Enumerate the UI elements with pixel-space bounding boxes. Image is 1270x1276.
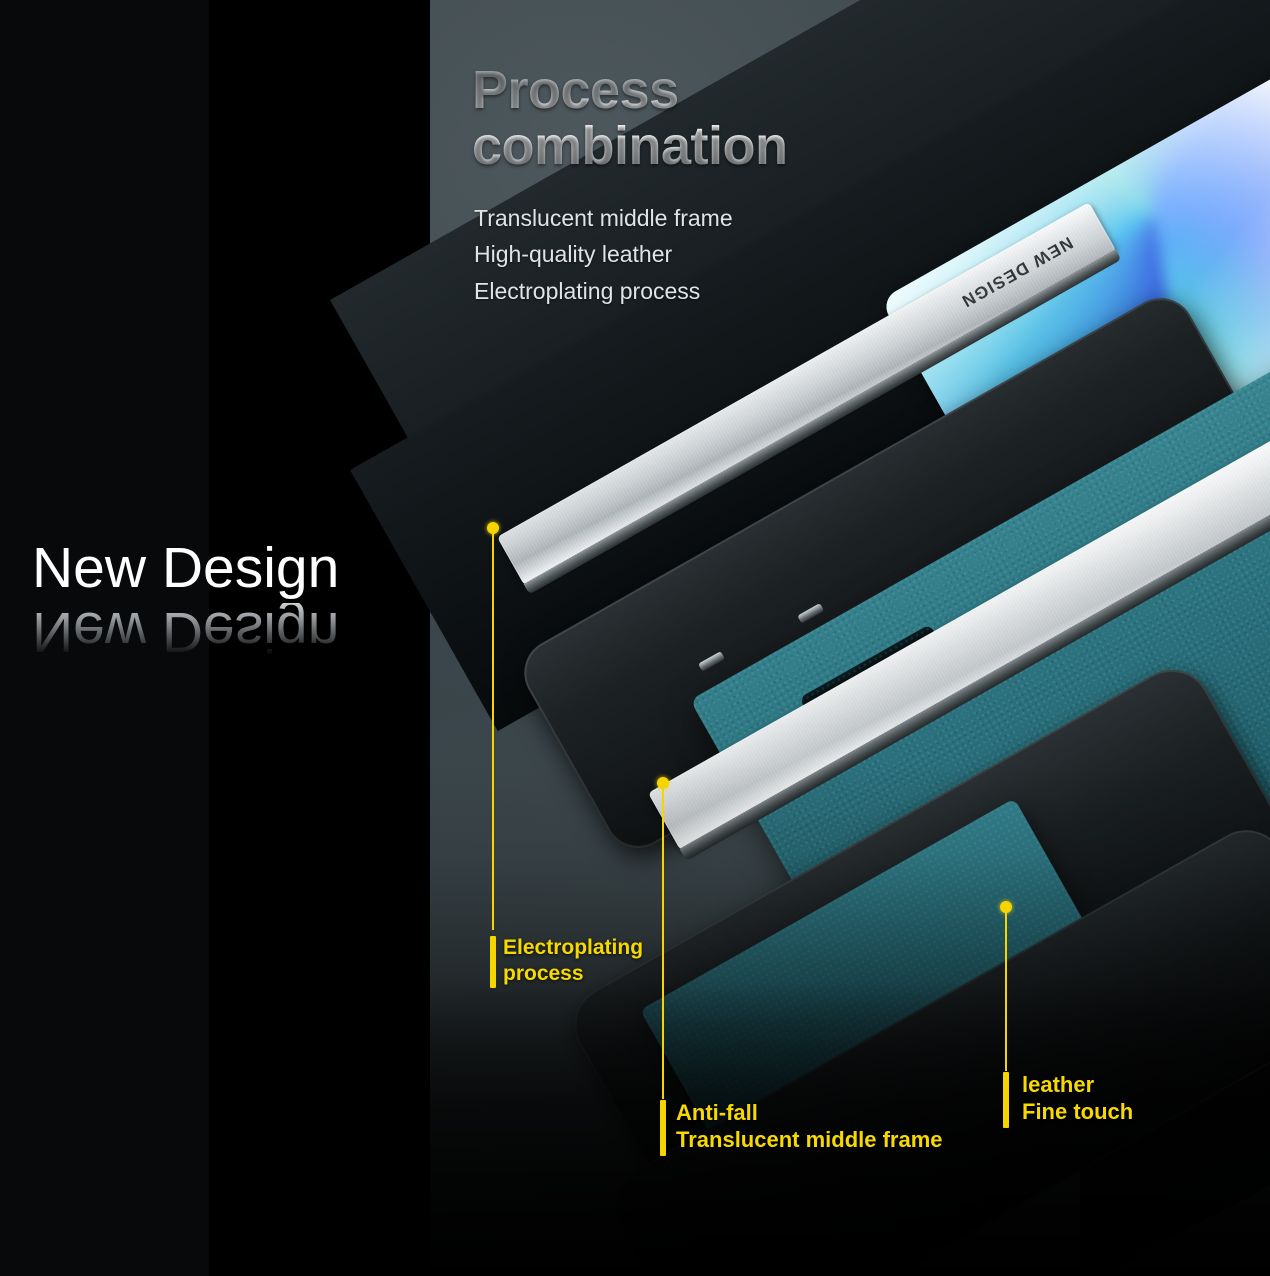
callout-tick-electroplating	[490, 936, 496, 988]
callout-leather: leather Fine touch	[1022, 1072, 1133, 1126]
callout-leader-anti-fall	[662, 787, 664, 1099]
phone-side-button-1	[698, 651, 725, 672]
callout-line-1: Electroplating	[503, 935, 643, 961]
callout-anti-fall: Anti-fall Translucent middle frame	[676, 1100, 943, 1154]
callout-leader-leather	[1005, 911, 1007, 1071]
callout-electroplating: Electroplating process	[503, 935, 643, 986]
brand-title: New Design	[32, 540, 339, 597]
subheading-list: Translucent middle frame High-quality le…	[474, 200, 733, 309]
product-marketing-banner: NEW DESIGN Process combination Transluce…	[0, 0, 1270, 1276]
phone-side-button-2	[797, 603, 824, 624]
callout-line-1: leather	[1022, 1072, 1133, 1099]
brand-title-reflection: New Design	[32, 603, 339, 660]
callout-tick-leather	[1003, 1072, 1009, 1128]
callout-leader-electroplating	[492, 532, 494, 930]
subheading-item: Translucent middle frame	[474, 200, 733, 236]
subheading-item: High-quality leather	[474, 236, 733, 272]
page-title-line-2: combination	[472, 118, 892, 174]
callout-line-2: process	[503, 961, 643, 987]
callout-line-2: Translucent middle frame	[676, 1127, 943, 1154]
brand-wordmark: New Design New Design	[32, 540, 339, 660]
page-title: Process combination	[472, 62, 892, 174]
callout-line-2: Fine touch	[1022, 1099, 1133, 1126]
subheading-item: Electroplating process	[474, 273, 733, 309]
panel-bottom-shading	[430, 760, 1270, 1276]
callout-tick-anti-fall	[660, 1100, 666, 1156]
page-title-line-1: Process	[472, 62, 892, 118]
callout-line-1: Anti-fall	[676, 1100, 943, 1127]
